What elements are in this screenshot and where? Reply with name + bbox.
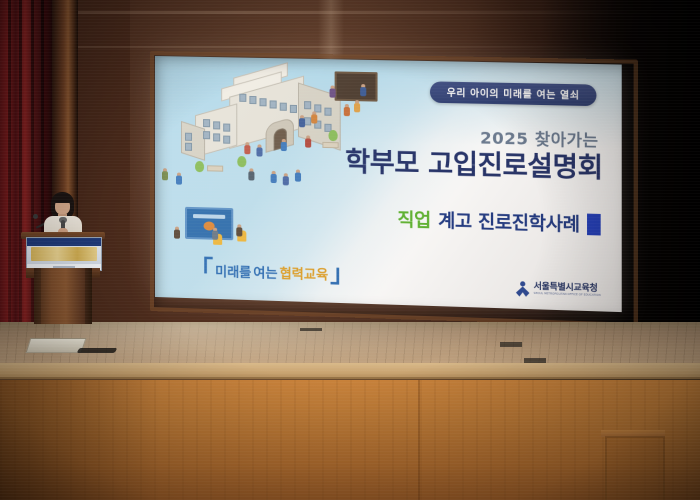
- apron-shadow: [0, 380, 160, 500]
- podium-body: [34, 268, 92, 324]
- podium-banner: [26, 237, 102, 271]
- podium-banner-header: [27, 238, 101, 246]
- light-beam: [318, 0, 344, 60]
- floor-marker: [500, 342, 522, 347]
- speaker-fringe: [53, 195, 72, 203]
- floor-marker: [300, 328, 322, 331]
- apron-seam: [418, 380, 420, 500]
- screen-frame: [150, 51, 638, 327]
- auditorium-photo: 우리 아이의 미래를 여는 열쇠 2025 찾아가는 학부모 고입진로설명회 직…: [0, 0, 700, 500]
- podium: [24, 232, 102, 324]
- stage-cable: [77, 348, 118, 353]
- podium-banner-title: [31, 247, 97, 261]
- floor-light-reflection: [60, 322, 490, 368]
- apron-access-panel: [605, 436, 665, 500]
